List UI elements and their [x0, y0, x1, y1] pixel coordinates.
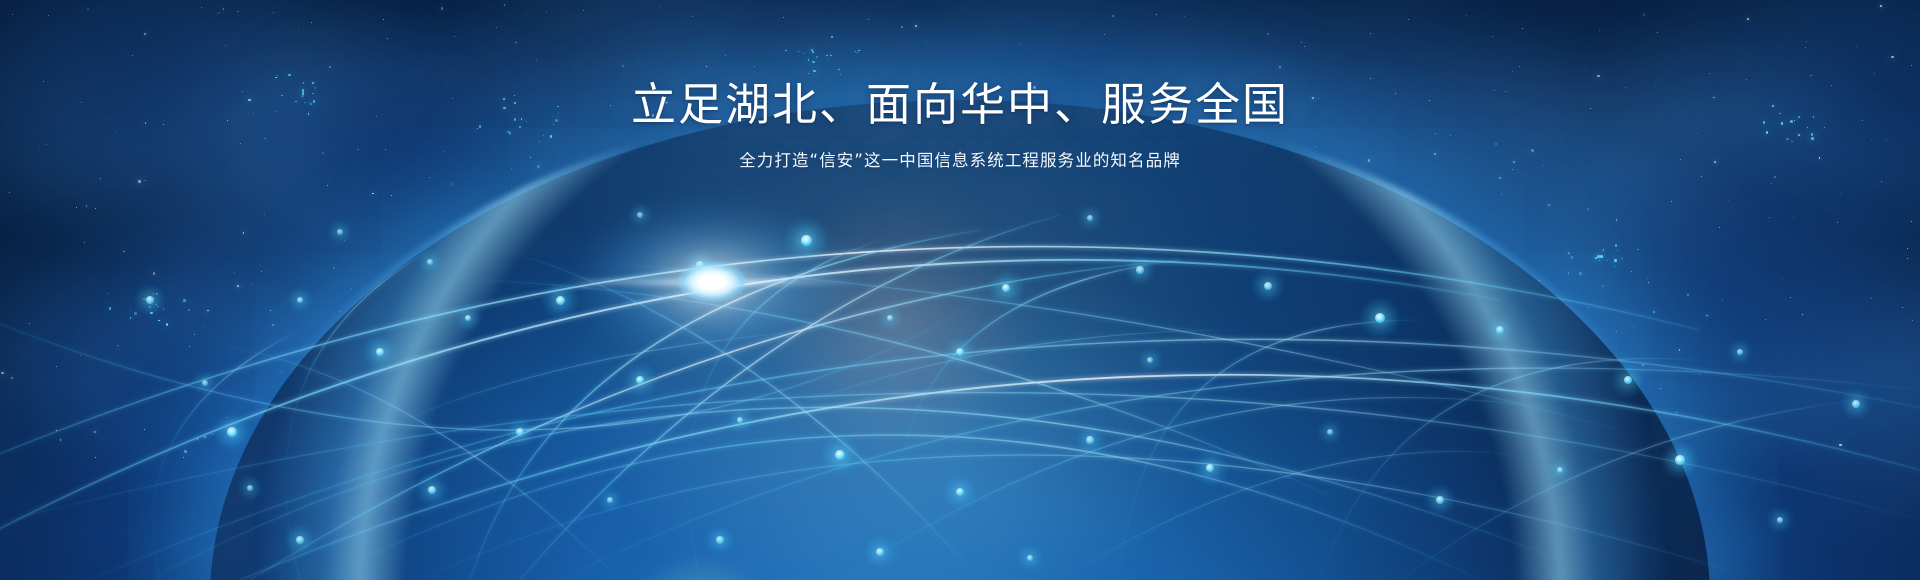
network-node	[1496, 326, 1503, 333]
page-subtitle: 全力打造“信安”这一中国信息系统工程服务业的知名品牌	[0, 147, 1920, 171]
network-node	[227, 427, 236, 436]
network-node	[956, 348, 964, 356]
network-node	[835, 450, 845, 460]
network-node	[146, 296, 154, 304]
network-node	[296, 536, 304, 544]
network-node	[1675, 455, 1684, 464]
network-node	[1436, 496, 1444, 504]
network-node	[247, 485, 253, 491]
network-node	[1327, 429, 1333, 435]
network-node	[876, 548, 884, 556]
banner-copy: 立足湖北、面向华中、服务全国 全力打造“信安”这一中国信息系统工程服务业的知名品…	[0, 78, 1920, 171]
network-node	[428, 486, 436, 494]
network-node	[1264, 282, 1272, 290]
network-node	[337, 229, 343, 235]
network-node	[1086, 436, 1093, 443]
network-node	[556, 296, 565, 305]
page-title: 立足湖北、面向华中、服务全国	[0, 78, 1920, 131]
network-node	[716, 536, 723, 543]
network-node	[1147, 357, 1153, 363]
network-node	[516, 428, 523, 435]
network-node	[1136, 266, 1143, 273]
network-node	[1852, 400, 1860, 408]
network-node	[202, 380, 208, 386]
network-node	[1375, 313, 1385, 323]
hero-banner: 立足湖北、面向华中、服务全国 全力打造“信安”这一中国信息系统工程服务业的知名品…	[0, 0, 1920, 580]
light-burst-core	[678, 262, 746, 302]
